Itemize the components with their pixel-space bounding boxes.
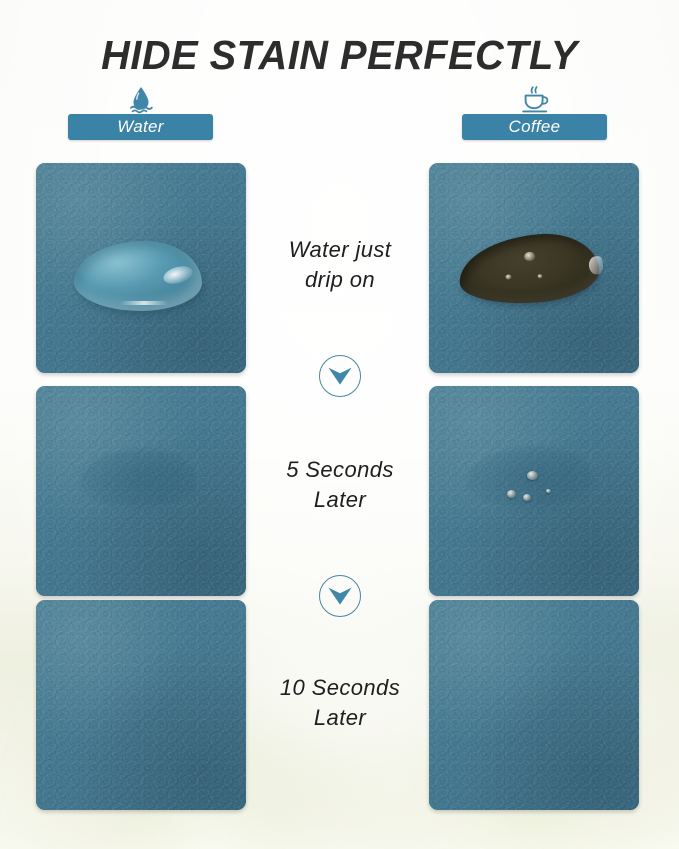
photo-panel-water-stage2: [36, 386, 246, 596]
spill-highlight: [505, 274, 511, 279]
photo-panel-coffee-stage3: [429, 600, 639, 810]
spill-highlight: [524, 252, 536, 262]
coffee-cup-icon: [518, 86, 552, 114]
photo-panel-water-stage1: [36, 163, 246, 373]
stage-arrow-1: [319, 355, 361, 397]
stage-caption-1-line2: drip on: [250, 265, 430, 295]
leather-grain-texture: [36, 600, 246, 810]
residual-bead: [523, 494, 531, 501]
badge-coffee: Coffee: [462, 114, 607, 140]
stage-caption-3: 10 Seconds Later: [250, 673, 430, 734]
chevron-down-icon: [327, 585, 353, 607]
stage-caption-2: 5 Seconds Later: [250, 455, 430, 516]
stage-caption-3-line2: Later: [250, 703, 430, 733]
spill-highlight: [537, 274, 542, 278]
badge-water: Water: [68, 114, 213, 140]
stage-arrow-2: [319, 575, 361, 617]
photo-panel-coffee-stage2: [429, 386, 639, 596]
residual-bead: [527, 471, 538, 480]
badge-coffee-label: Coffee: [509, 117, 561, 136]
water-drop-icon: [124, 86, 158, 114]
stage-caption-2-line2: Later: [250, 485, 430, 515]
stage-caption-2-line1: 5 Seconds: [286, 457, 394, 482]
infographic-poster: HIDE STAIN PERFECTLY Water Coffee: [0, 0, 679, 849]
chevron-down-icon: [327, 365, 353, 387]
stage-caption-3-line1: 10 Seconds: [280, 675, 400, 700]
spill-edge-shine: [588, 256, 603, 275]
leather-grain-texture: [429, 600, 639, 810]
stage-caption-1: Water just drip on: [250, 235, 430, 296]
photo-panel-coffee-stage1: [429, 163, 639, 373]
photo-panel-water-stage3: [36, 600, 246, 810]
poster-title: HIDE STAIN PERFECTLY: [10, 32, 669, 79]
droplet-highlight: [120, 301, 168, 305]
residual-bead: [507, 490, 516, 498]
stage-caption-1-line1: Water just: [289, 237, 392, 262]
residual-bead: [546, 489, 551, 493]
badge-water-label: Water: [117, 117, 164, 136]
